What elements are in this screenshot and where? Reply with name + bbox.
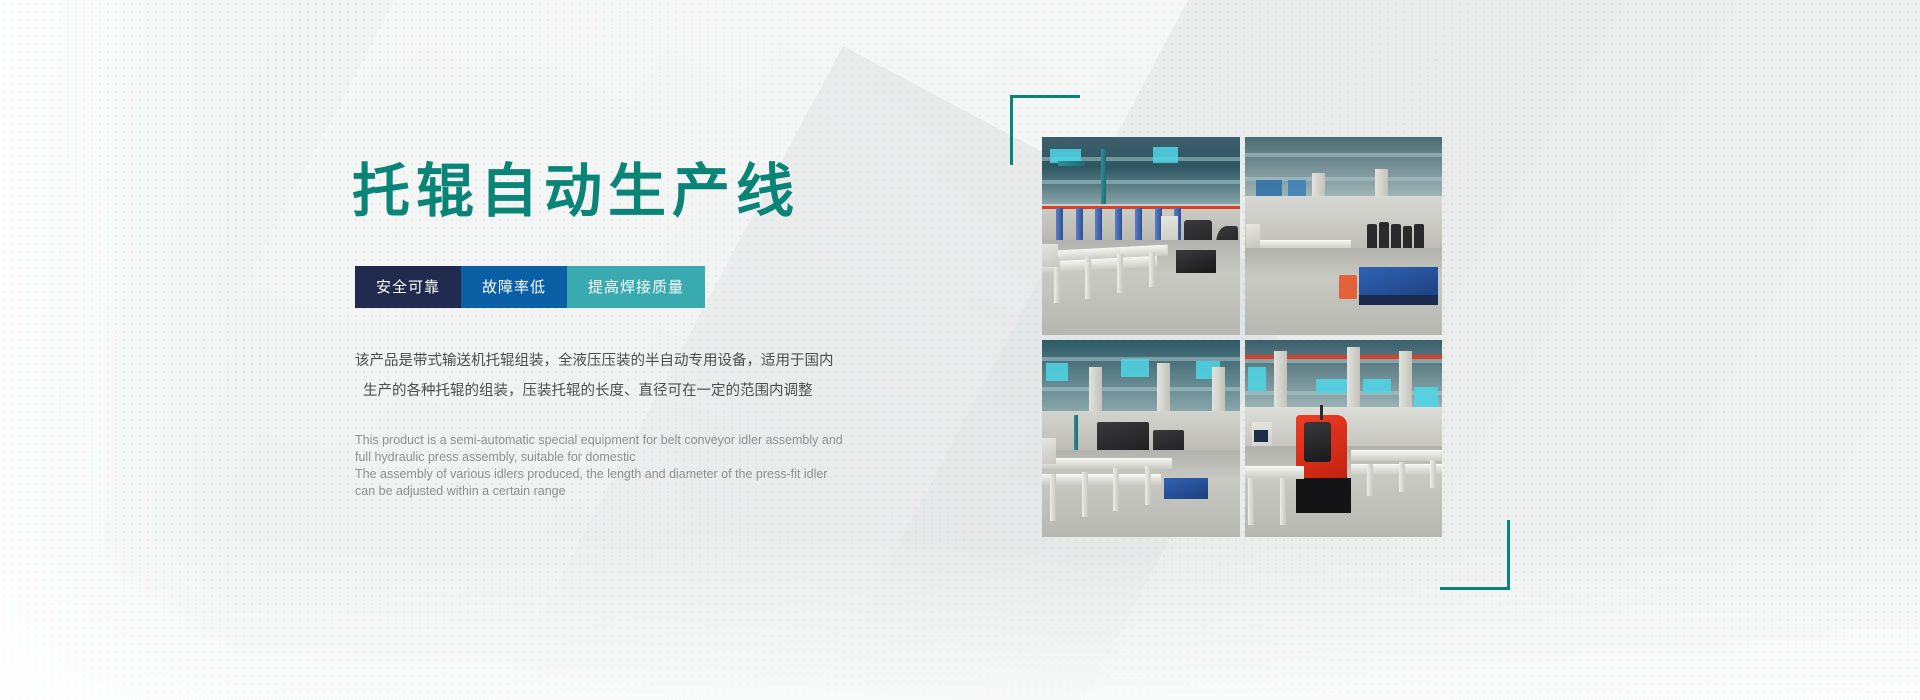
photo-workshop-benches[interactable] <box>1245 137 1443 335</box>
description-chinese-line-1: 该产品是带式输送机托辊组装，全液压压装的半自动专用设备，适用于国内 <box>355 353 834 369</box>
description-english-paragraph-2: The assembly of various idlers produced,… <box>355 466 915 500</box>
description-english-p1-line-1: This product is a semi-automatic special… <box>355 432 915 449</box>
corner-bracket-bottom-right-icon <box>1440 520 1510 590</box>
description-english-p2-line-2: can be adjusted within a certain range <box>355 483 915 500</box>
feature-badge-low-failure-rate[interactable]: 故障率低 <box>461 266 567 308</box>
description-chinese: 该产品是带式输送机托辊组装，全液压压装的半自动专用设备，适用于国内 生产的各种托… <box>355 346 915 406</box>
bottom-vignette <box>0 530 1920 700</box>
description-english-p1-line-2: full hydraulic press assembly, suitable … <box>355 449 915 466</box>
banner-text-column: 托辊自动生产线 安全可靠 故障率低 提高焊接质量 该产品是带式输送机托辊组装，全… <box>352 160 952 500</box>
feature-badge-safe-reliable[interactable]: 安全可靠 <box>355 266 461 308</box>
product-photo-collage <box>1010 95 1470 580</box>
photo-conveyor-line-left[interactable] <box>1042 137 1240 335</box>
photo-grid <box>1042 137 1442 537</box>
product-banner: 托辊自动生产线 安全可靠 故障率低 提高焊接质量 该产品是带式输送机托辊组装，全… <box>0 0 1920 700</box>
page-title: 托辊自动生产线 <box>352 160 952 224</box>
description-english-p2-line-1: The assembly of various idlers produced,… <box>355 466 915 483</box>
feature-badge-improved-weld-quality[interactable]: 提高焊接质量 <box>567 266 705 308</box>
feature-badge-row: 安全可靠 故障率低 提高焊接质量 <box>355 266 952 308</box>
photo-welding-station[interactable] <box>1042 340 1240 538</box>
description-english: This product is a semi-automatic special… <box>355 432 915 500</box>
photo-red-press-machine[interactable] <box>1245 340 1443 538</box>
description-chinese-line-2: 生产的各种托辊的组装，压装托辊的长度、直径可在一定的范围内调整 <box>355 376 915 406</box>
description-english-paragraph-1: This product is a semi-automatic special… <box>355 432 915 466</box>
